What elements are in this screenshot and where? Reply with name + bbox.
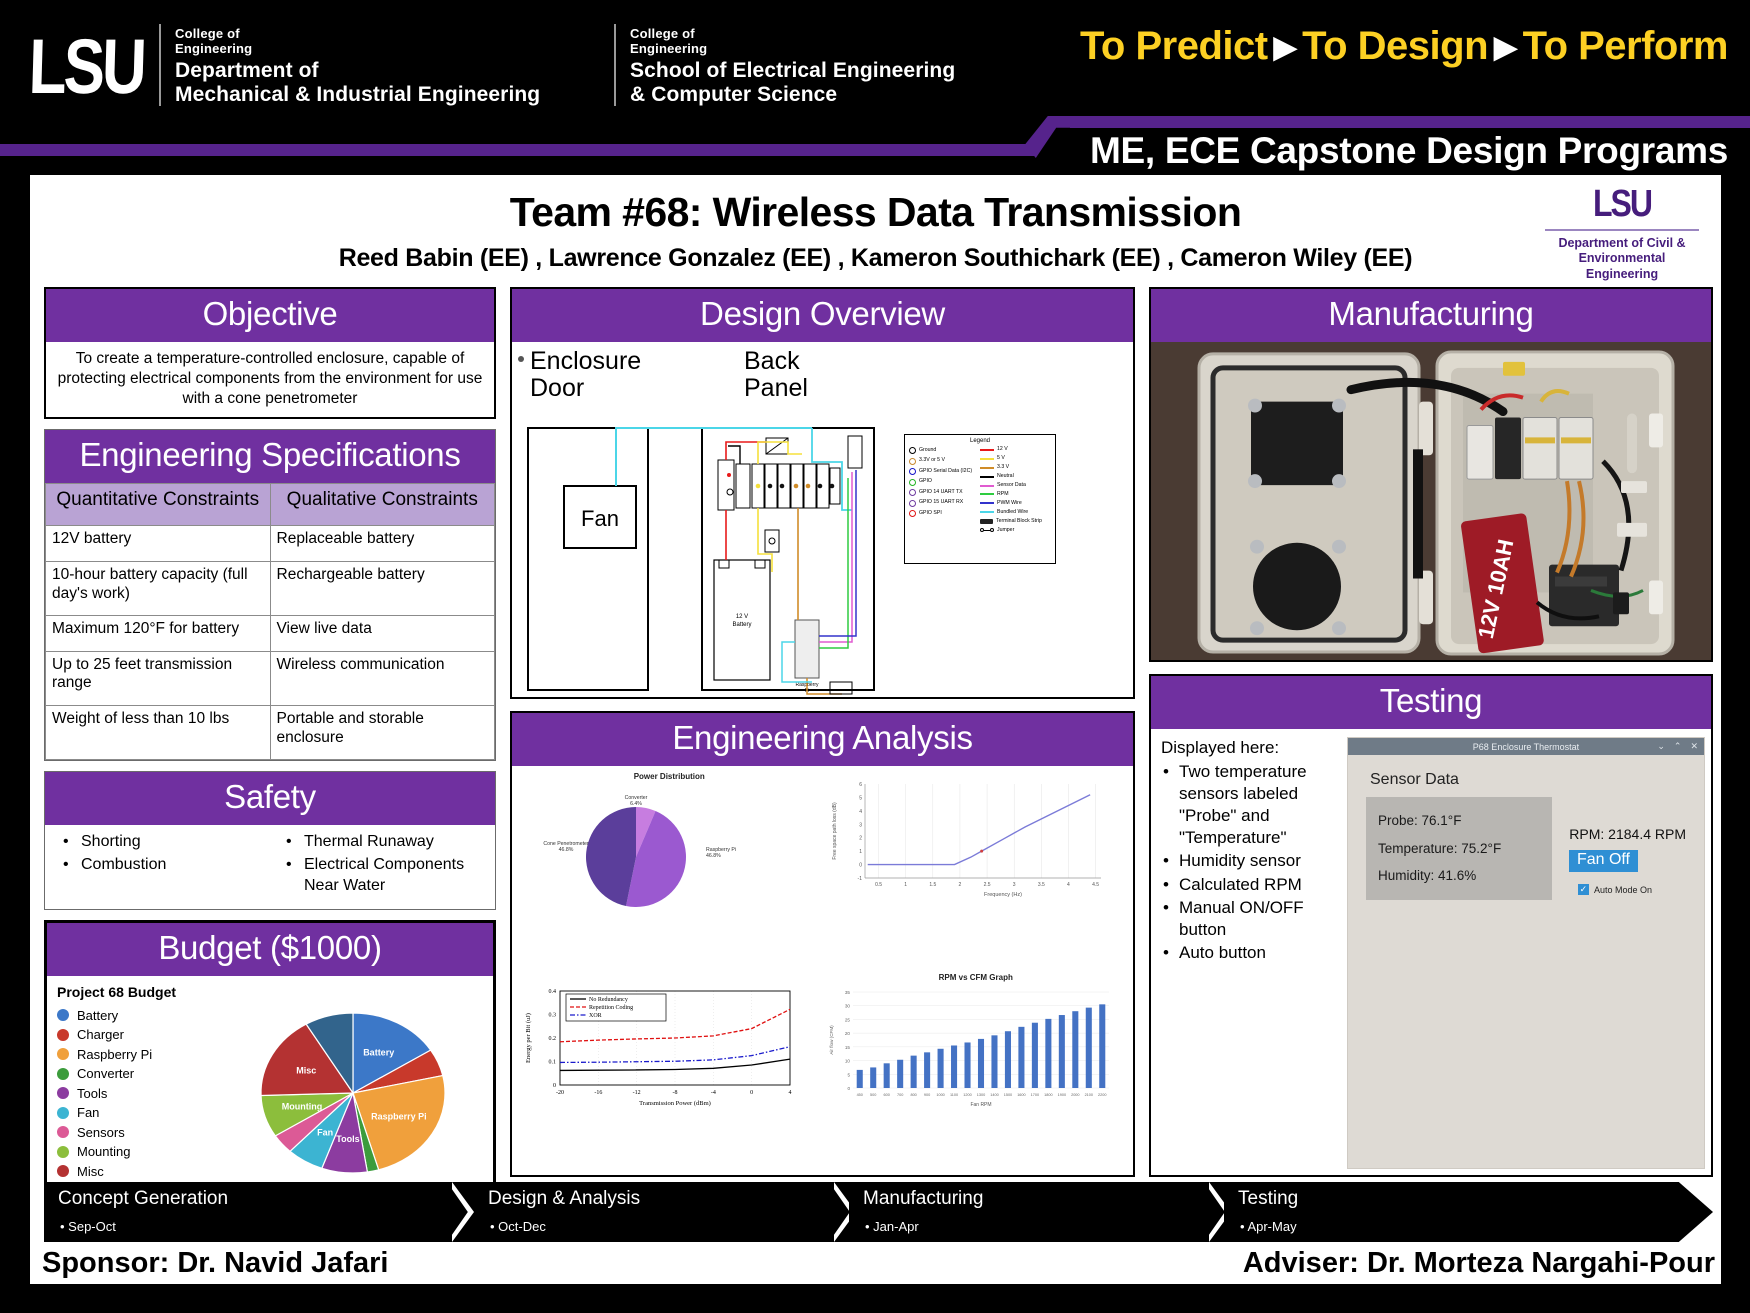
legend-wire-line-icon — [980, 449, 994, 451]
y-tick-label: 6 — [859, 782, 862, 788]
bar — [924, 1052, 930, 1088]
civil-logo-rule — [1545, 229, 1699, 231]
x-tick-label: 600 — [883, 1093, 889, 1097]
design-overview-diagram: EnclosureDoor BackPanel Fan — [512, 342, 1133, 697]
table-row: Maximum 120°F for battery View live data — [46, 616, 495, 652]
legend-wire-item: Bundled Wire — [980, 510, 1051, 515]
power-distribution-title: Power Distribution — [518, 772, 821, 781]
legend-wire-line-icon — [980, 502, 994, 504]
legend-wire-line-icon — [980, 493, 994, 495]
arrow-right-icon: ▶ — [1268, 31, 1303, 64]
legend-wire-line-icon — [980, 511, 994, 513]
x-tick-label: 2000 — [1071, 1093, 1079, 1097]
y-tick-label: 5 — [859, 795, 862, 801]
legend-terminal-block-label: Terminal Block Strip — [996, 519, 1042, 524]
timeline-segment-concept: Concept Generation • Sep-Oct — [44, 1182, 474, 1242]
timeline-title: Testing — [1224, 1182, 1713, 1210]
cell-qual: Replaceable battery — [270, 526, 495, 562]
tagline: To Predict▶To Design▶To Perform — [1080, 24, 1728, 69]
bar — [937, 1048, 943, 1087]
legend-node-ring-icon — [909, 479, 916, 486]
legend-node-ring-icon — [909, 468, 916, 475]
ece-school-of: School of Electrical Engineering — [630, 59, 955, 84]
legend-item: Raspberry Pi — [57, 1047, 222, 1062]
timeline-segment-manufacturing: Manufacturing • Jan-Apr — [849, 1182, 1224, 1242]
ece-college-of: College of — [630, 26, 955, 41]
tagline-design: To Design — [1302, 24, 1488, 68]
x-tick-label: 4 — [1067, 882, 1070, 888]
pie-slice-label: Battery — [363, 1047, 394, 1057]
list-item: Auto button — [1161, 942, 1341, 964]
y-tick-label: 0.4 — [549, 989, 557, 995]
auto-mode-checkbox[interactable]: ✓ — [1578, 884, 1589, 895]
x-tick-label: 1 — [904, 882, 907, 888]
pie-annotation-value: 6.4% — [630, 801, 642, 807]
legend-label: Mounting — [77, 1144, 130, 1159]
timeline-segment-testing: Testing • Apr-May — [1224, 1182, 1713, 1242]
legend-node-item: GPIO 15 UART RX — [909, 500, 980, 507]
table-row: Up to 25 feet transmission range Wireles… — [46, 651, 495, 705]
legend-node-item: GPIO SPI — [909, 510, 980, 517]
legend-wire-label: Bundled Wire — [997, 510, 1028, 515]
timeline-sub: • Jan-Apr — [849, 1210, 1224, 1234]
bar — [964, 1042, 970, 1088]
legend-wire-label: 5 V — [997, 456, 1005, 461]
legend-label: XOR — [589, 1013, 602, 1019]
legend-node-label: GPIO SPI — [919, 511, 942, 516]
legend-wire-line-icon — [980, 485, 994, 487]
rpm-cfm-title: RPM vs CFM Graph — [825, 973, 1128, 982]
objective-panel: Objective To create a temperature-contro… — [44, 287, 496, 419]
legend-item: Battery — [57, 1008, 222, 1023]
legend-node-ring-icon — [909, 458, 916, 465]
x-tick-label: 500 — [870, 1093, 876, 1097]
energy-per-bit-chart: -20-16-12-8-40400.10.20.30.4No Redundanc… — [518, 973, 821, 1170]
bar — [897, 1059, 903, 1087]
legend-wire-column: 12 V5 V3.3 VNeutralSensor DataRPMPWM Wir… — [980, 447, 1051, 537]
civil-line-3: Engineering — [1539, 267, 1705, 282]
specifications-table: Quantitative Constraints Qualitative Con… — [45, 483, 495, 760]
design-overview-panel: Design Overview EnclosureDoor BackPanel … — [510, 287, 1135, 699]
list-item: Thermal Runaway — [284, 831, 493, 852]
fan-toggle-button[interactable]: Fan Off — [1569, 850, 1638, 872]
x-tick-label: 3.5 — [1037, 882, 1044, 888]
y-tick-label: 4 — [859, 809, 862, 815]
rpm-cfm-svg: 0510152025303545050060070080090010001100… — [825, 984, 1115, 1124]
legend-wire-item: 3.3 V — [980, 465, 1051, 470]
y-tick-label: 2 — [859, 836, 862, 842]
testing-panel: Testing Displayed here: Two temperature … — [1149, 674, 1713, 1177]
x-tick-label: 1900 — [1057, 1093, 1065, 1097]
y-tick-label: 0 — [847, 1086, 850, 1091]
list-item: Manual ON/OFF button — [1161, 897, 1341, 941]
x-tick-label: 1000 — [936, 1093, 944, 1097]
close-icon[interactable]: ✕ — [1690, 741, 1698, 752]
author-list: Reed Babin (EE) , Lawrence Gonzalez (EE)… — [30, 244, 1721, 273]
auto-mode-row[interactable]: ✓ Auto Mode On — [1578, 884, 1652, 895]
project-timeline: Concept Generation • Sep-Oct Design & An… — [44, 1182, 1713, 1242]
legend-wire-label: 3.3 V — [997, 465, 1009, 470]
right-column: Manufacturing — [1149, 287, 1713, 1177]
list-item: Humidity sensor — [1161, 850, 1341, 872]
civil-line-1: Department of Civil & — [1539, 236, 1705, 251]
list-item: Combustion — [61, 854, 270, 875]
budget-pie-svg: BatteryRaspberry PiToolsFanMountingMisc — [228, 993, 478, 1193]
legend-item: Converter — [57, 1066, 222, 1081]
legend-node-item: GPIO 14 UART TX — [909, 489, 980, 496]
x-tick-label: -12 — [633, 1090, 641, 1096]
safety-right-list: Thermal Runaway Electrical Components Ne… — [270, 831, 493, 898]
band-right-segment — [1070, 116, 1750, 128]
page-title: Team #68: Wireless Data Transmission — [30, 189, 1721, 236]
legend-label: Fan — [77, 1105, 99, 1120]
x-tick-label: 2100 — [1084, 1093, 1092, 1097]
timeline-segment-design: Design & Analysis • Oct-Dec — [474, 1182, 849, 1242]
timeline-title: Manufacturing — [849, 1182, 1224, 1210]
sensor-data-heading: Sensor Data — [1348, 755, 1704, 797]
y-tick-label: 0 — [553, 1083, 556, 1089]
legend-node-ring-icon — [909, 510, 916, 517]
legend-node-label: GPIO 15 UART RX — [919, 500, 963, 505]
data-point-marker — [980, 850, 983, 853]
legend-node-item: GPIO Serial Data (I2C) — [909, 468, 980, 475]
list-item: Calculated RPM — [1161, 874, 1341, 896]
legend-swatch — [57, 1146, 69, 1158]
table-row: Weight of less than 10 lbs Portable and … — [46, 706, 495, 760]
cell-quant: 12V battery — [46, 526, 271, 562]
safety-left-list: Shorting Combustion — [47, 831, 270, 898]
bar — [1058, 1015, 1064, 1088]
budget-legend: Project 68 Budget BatteryChargerRaspberr… — [57, 984, 222, 1203]
power-distribution-chart: Power Distribution Converter6.4%Raspberr… — [518, 772, 821, 969]
minimize-icon[interactable]: ⌄ — [1657, 741, 1665, 752]
testing-description: Displayed here: Two temperature sensors … — [1161, 737, 1341, 1169]
y-tick-label: 0.3 — [549, 1012, 557, 1018]
y-axis-label: Air flow (CFM) — [829, 1024, 834, 1054]
svg-text:Battery: Battery — [732, 622, 751, 628]
x-axis-label: Fan RPM — [970, 1102, 991, 1108]
civil-engineering-logo: LSU Department of Civil & Environmental … — [1539, 185, 1705, 282]
legend-label: Sensors — [77, 1125, 125, 1140]
y-tick-label: 1 — [859, 849, 862, 855]
ece-logo-group: College of Engineering School of Electri… — [600, 24, 955, 108]
col-qualitative: Qualitative Constraints — [270, 484, 495, 526]
safety-heading: Safety — [45, 772, 495, 825]
legend-item: Charger — [57, 1027, 222, 1042]
me-engineering: Engineering — [175, 41, 540, 56]
timeline-sub: • Apr-May — [1224, 1210, 1713, 1234]
x-tick-label: 0.5 — [875, 882, 882, 888]
logo-divider-2 — [614, 24, 616, 106]
y-tick-label: 10 — [844, 1058, 850, 1063]
legend-wire-label: RPM — [997, 492, 1009, 497]
temperature-reading: Temperature: 75.2°F — [1378, 835, 1540, 863]
tagline-perform: To Perform — [1523, 24, 1728, 68]
x-tick-label: -20 — [556, 1090, 564, 1096]
list-item: Shorting — [61, 831, 270, 852]
y-tick-label: 0.2 — [549, 1036, 557, 1042]
cell-qual: View live data — [270, 616, 495, 652]
cell-quant: 10-hour battery capacity (full day's wor… — [46, 562, 271, 616]
series-line — [867, 795, 1089, 865]
specifications-panel: Engineering Specifications Quantitative … — [44, 429, 496, 761]
logo-divider — [159, 24, 161, 106]
legend-item: Fan — [57, 1105, 222, 1120]
x-tick-label: 2 — [958, 882, 961, 888]
bar — [883, 1063, 889, 1088]
legend-node-item: 3.3V or 5 V — [909, 458, 980, 465]
table-row: 10-hour battery capacity (full day's wor… — [46, 562, 495, 616]
lsu-civil-wordmark-icon: LSU — [1539, 181, 1705, 225]
bar — [856, 1069, 862, 1087]
timeline-sub: • Oct-Dec — [474, 1210, 849, 1234]
legend-swatch — [57, 1068, 69, 1080]
pie-annotation-value: 46.8% — [706, 853, 721, 859]
specifications-heading: Engineering Specifications — [45, 430, 495, 483]
budget-chart-title: Project 68 Budget — [57, 984, 222, 1000]
pie-slice-label: Mounting — [281, 1102, 321, 1112]
pie-slice-label: Tools — [336, 1134, 359, 1144]
budget-panel: Budget ($1000) Project 68 Budget Battery… — [44, 920, 496, 1216]
center-column: Design Overview EnclosureDoor BackPanel … — [510, 287, 1135, 1177]
legend-label: Converter — [77, 1066, 134, 1081]
x-tick-label: 2200 — [1098, 1093, 1106, 1097]
manufacturing-panel: Manufacturing — [1149, 287, 1713, 662]
legend-node-label: GPIO — [919, 479, 932, 484]
y-axis-label: Energy per Bit (uJ) — [525, 1013, 532, 1063]
table-row: 12V battery Replaceable battery — [46, 526, 495, 562]
rpm-vs-cfm-chart: RPM vs CFM Graph 05101520253035450500600… — [825, 973, 1128, 1170]
legend-wire-item: Sensor Data — [980, 483, 1051, 488]
legend-swatch — [57, 1165, 69, 1177]
diagram-legend: Legend Ground3.3V or 5 VGPIO Serial Data… — [904, 434, 1056, 564]
legend-label: No Redundancy — [589, 997, 628, 1003]
legend-node-ring-icon — [909, 500, 916, 507]
x-tick-label: 1700 — [1030, 1093, 1038, 1097]
legend-node-label: Ground — [919, 448, 936, 453]
me-department-block: College of Engineering Department of Mec… — [175, 24, 540, 108]
legend-jumper-label: Jumper — [997, 528, 1014, 533]
legend-node-label: 3.3V or 5 V — [919, 458, 945, 463]
bar — [910, 1055, 916, 1087]
cell-quant: Maximum 120°F for battery — [46, 616, 271, 652]
legend-swatch — [57, 1126, 69, 1138]
legend-swatch — [57, 1009, 69, 1021]
bar — [1072, 1011, 1078, 1088]
x-axis-label: Frequency (Hz) — [984, 892, 1022, 898]
legend-label: Repetition Coding — [589, 1005, 633, 1011]
legend-wire-line-icon — [980, 476, 994, 478]
tagline-predict: To Predict — [1080, 24, 1268, 68]
legend-swatch — [57, 1107, 69, 1119]
pie-annotation-value: 46.8% — [559, 847, 574, 853]
bar — [1085, 1007, 1091, 1087]
app-window-title: P68 Enclosure Thermostat — [1473, 742, 1579, 752]
ece-engineering: Engineering — [630, 41, 955, 56]
fspl-svg: 0.511.522.533.544.5-10123456Frequency (H… — [825, 772, 1115, 922]
x-tick-label: 450 — [856, 1093, 862, 1097]
svg-text:Fan: Fan — [581, 506, 619, 531]
y-tick-label: -1 — [857, 876, 862, 882]
x-tick-label: 700 — [896, 1093, 902, 1097]
manufacturing-photo: 12V 10AH — [1151, 342, 1711, 660]
testing-heading: Testing — [1151, 676, 1711, 729]
sensor-data-card: Probe: 76.1°F Temperature: 75.2°F Humidi… — [1366, 797, 1552, 900]
legend-jumper-item: Jumper — [980, 528, 1051, 533]
budget-heading: Budget ($1000) — [47, 923, 493, 976]
legend-terminal-block-item: Terminal Block Strip — [980, 519, 1051, 524]
x-tick-label: 0 — [750, 1090, 753, 1096]
col-quantitative: Quantitative Constraints — [46, 484, 271, 526]
legend-node-column: Ground3.3V or 5 VGPIO Serial Data (I2C)G… — [909, 447, 980, 537]
y-tick-label: 5 — [847, 1072, 850, 1077]
rpm-reading: RPM: 2184.4 RPM — [1569, 826, 1686, 842]
x-tick-label: 4 — [789, 1090, 792, 1096]
maximize-icon[interactable]: ⌃ — [1674, 741, 1682, 752]
enclosure-photo-illustration: 12V 10AH — [1151, 342, 1711, 660]
civil-line-2: Environmental — [1539, 251, 1705, 266]
x-tick-label: 1200 — [963, 1093, 971, 1097]
legend-node-label: GPIO Serial Data (I2C) — [919, 469, 972, 474]
x-tick-label: 3 — [1012, 882, 1015, 888]
budget-pie-chart: BatteryRaspberry PiToolsFanMountingMisc — [222, 984, 483, 1203]
legend-item: Mounting — [57, 1144, 222, 1159]
arrow-right-icon-2: ▶ — [1488, 31, 1523, 64]
legend-node-ring-icon — [909, 447, 916, 454]
bar — [1018, 1026, 1024, 1087]
ece-department-block: College of Engineering School of Electri… — [630, 24, 955, 108]
cell-qual: Wireless communication — [270, 651, 495, 705]
x-tick-label: 1.5 — [929, 882, 936, 888]
cell-quant: Weight of less than 10 lbs — [46, 706, 271, 760]
x-tick-label: 1600 — [1017, 1093, 1025, 1097]
svg-text:12 V: 12 V — [736, 614, 748, 620]
legend-wire-label: PWM Wire — [997, 501, 1022, 506]
y-tick-label: 3 — [859, 822, 862, 828]
energy-per-bit-svg: -20-16-12-8-40400.10.20.30.4No Redundanc… — [518, 973, 808, 1123]
legend-label: Tools — [77, 1086, 107, 1101]
timeline-title: Design & Analysis — [474, 1182, 849, 1210]
x-tick-label: 4.5 — [1092, 882, 1099, 888]
objective-text: To create a temperature-controlled enclo… — [46, 342, 494, 417]
x-tick-label: 1100 — [949, 1093, 957, 1097]
testing-lead: Displayed here: — [1161, 737, 1341, 759]
design-overview-heading: Design Overview — [512, 289, 1133, 342]
terminal-block-icon — [980, 519, 993, 524]
y-tick-label: 30 — [844, 1003, 850, 1008]
bar — [991, 1035, 997, 1088]
bar — [977, 1038, 983, 1087]
legend-wire-item: 12 V — [980, 447, 1051, 452]
pie-slice — [586, 807, 636, 906]
y-tick-label: 25 — [844, 1017, 850, 1022]
legend-swatch — [57, 1087, 69, 1099]
legend-swatch — [57, 1048, 69, 1060]
pie-slice-label: Fan — [317, 1128, 333, 1138]
bar — [1045, 1018, 1051, 1087]
legend-item: Tools — [57, 1086, 222, 1101]
x-tick-label: -4 — [711, 1090, 716, 1096]
poster-footer: Sponsor: Dr. Navid Jafari Adviser: Dr. M… — [30, 1247, 1727, 1289]
pie-slice-label: Raspberry Pi — [371, 1112, 427, 1122]
y-tick-label: 35 — [844, 990, 850, 995]
jumper-icon — [980, 528, 994, 532]
x-tick-label: 2.5 — [983, 882, 990, 888]
band-left-segment — [0, 144, 1035, 156]
x-tick-label: 1800 — [1044, 1093, 1052, 1097]
thermostat-app-screenshot: P68 Enclosure Thermostat ⌄ ⌃ ✕ Sensor Da… — [1347, 737, 1705, 1169]
safety-panel: Safety Shorting Combustion Thermal Runaw… — [44, 771, 496, 909]
lsu-wordmark-icon: LSU — [28, 24, 145, 107]
probe-reading: Probe: 76.1°F — [1378, 807, 1540, 835]
power-distribution-svg: Converter6.4%Raspberry Pi46.8%Cone Penet… — [518, 783, 808, 918]
list-item: Two temperature sensors labeled "Probe" … — [1161, 761, 1341, 849]
legend-wire-label: 12 V — [997, 447, 1008, 452]
x-tick-label: 1400 — [990, 1093, 998, 1097]
legend-label: Misc — [77, 1164, 104, 1179]
legend-node-item: Ground — [909, 447, 980, 454]
legend-label: Charger — [77, 1027, 124, 1042]
cell-qual: Portable and storable enclosure — [270, 706, 495, 760]
bar — [951, 1045, 957, 1088]
lsu-logo-group: LSU College of Engineering Department of… — [30, 24, 540, 108]
me-college-of: College of — [175, 26, 540, 41]
purple-band: ME, ECE Capstone Design Programs — [0, 116, 1750, 168]
legend-item: Sensors — [57, 1125, 222, 1140]
list-item: Electrical Components Near Water — [284, 854, 493, 896]
legend-wire-line-icon — [980, 458, 994, 460]
legend-swatch — [57, 1029, 69, 1041]
free-space-path-loss-chart: 0.511.522.533.544.5-10123456Frequency (H… — [825, 772, 1128, 969]
y-tick-label: 15 — [844, 1044, 850, 1049]
x-axis-label: Transmission Power (dBm) — [639, 1100, 711, 1107]
legend-wire-item: 5 V — [980, 456, 1051, 461]
engineering-analysis-panel: Engineering Analysis Power Distribution … — [510, 711, 1135, 1177]
x-tick-label: 1300 — [976, 1093, 984, 1097]
left-column: Objective To create a temperature-contro… — [44, 287, 496, 1177]
poster-content-grid: Objective To create a temperature-contro… — [30, 287, 1727, 1177]
y-tick-label: 20 — [844, 1031, 850, 1036]
bar — [870, 1067, 876, 1088]
legend-wire-line-icon — [980, 467, 994, 469]
manufacturing-heading: Manufacturing — [1151, 289, 1711, 342]
legend-wire-label: Sensor Data — [997, 483, 1026, 488]
poster-board: Team #68: Wireless Data Transmission Ree… — [27, 172, 1724, 1287]
legend-wire-label: Neutral — [997, 474, 1014, 479]
cell-qual: Rechargeable battery — [270, 562, 495, 616]
y-tick-label: 0.1 — [549, 1059, 557, 1065]
bar — [1004, 1031, 1010, 1088]
x-tick-label: -16 — [594, 1090, 602, 1096]
objective-heading: Objective — [46, 289, 494, 342]
sponsor-label: Sponsor: Dr. Navid Jafari — [42, 1247, 389, 1280]
app-title-bar: P68 Enclosure Thermostat ⌄ ⌃ ✕ — [1348, 738, 1704, 755]
legend-node-item: GPIO — [909, 479, 980, 486]
table-header-row: Quantitative Constraints Qualitative Con… — [46, 484, 495, 526]
y-tick-label: 0 — [859, 863, 862, 869]
x-tick-label: 1500 — [1003, 1093, 1011, 1097]
pie-slice-label: Misc — [296, 1066, 316, 1076]
me-department-of: Department of — [175, 59, 540, 84]
legend-wire-item: PWM Wire — [980, 501, 1051, 506]
bar — [1099, 1004, 1105, 1088]
bar — [1031, 1022, 1037, 1087]
me-department-name: Mechanical & Industrial Engineering — [175, 83, 540, 108]
legend-item: Misc — [57, 1164, 222, 1179]
legend-node-ring-icon — [909, 489, 916, 496]
y-axis-label: Free space path loss (dB) — [832, 802, 838, 860]
ece-school-name: & Computer Science — [630, 83, 955, 108]
